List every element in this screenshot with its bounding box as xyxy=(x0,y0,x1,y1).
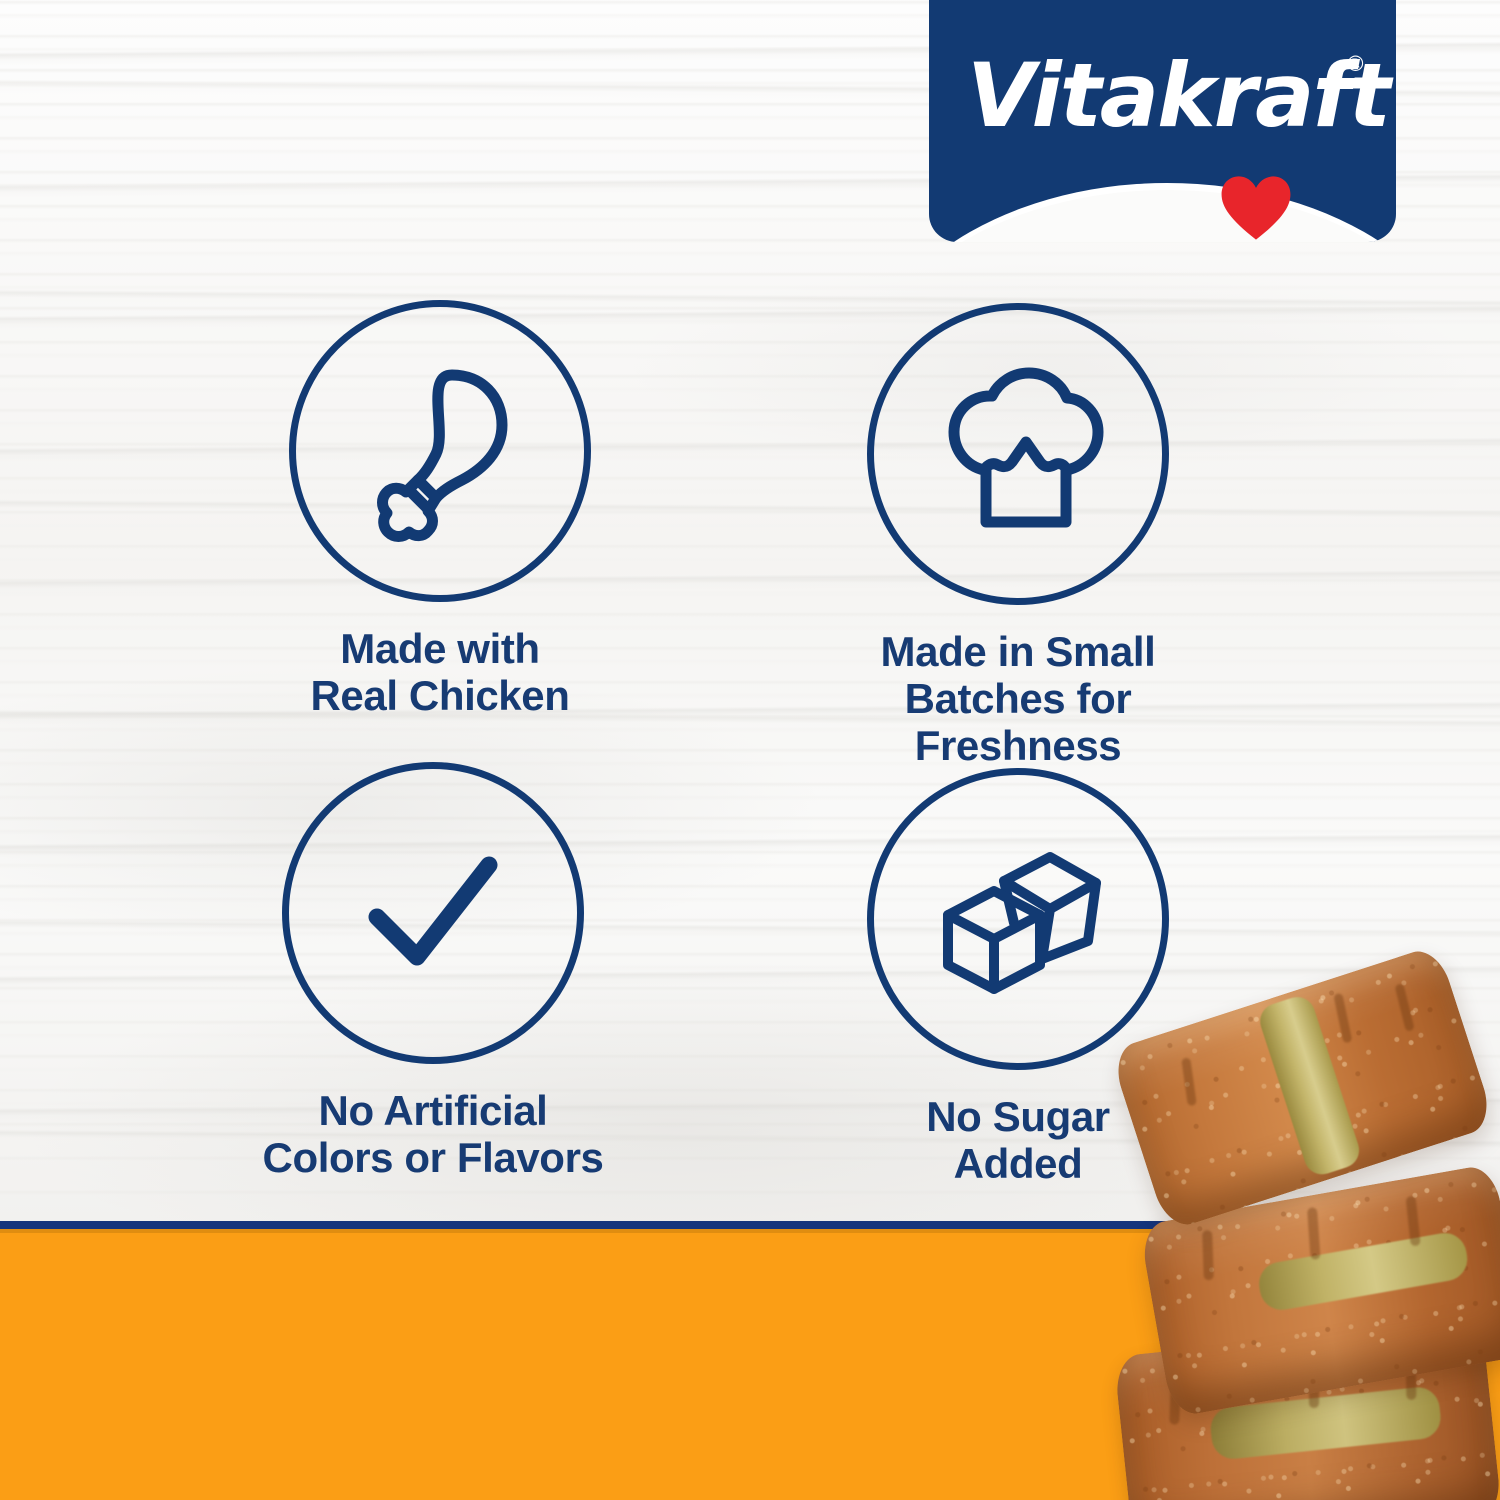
brand-wordmark: Vitakraft xyxy=(967,52,1389,140)
chef-hat-icon xyxy=(918,354,1118,554)
benefit-made-with-real-chicken: Made with Real Chicken xyxy=(220,300,660,719)
registered-trademark-symbol: ® xyxy=(1345,54,1366,75)
benefit-icon-circle xyxy=(289,300,591,602)
benefit-no-artificial-colors-or-flavors: No Artificial Colors or Flavors xyxy=(213,762,653,1181)
benefit-label: Made with Real Chicken xyxy=(220,625,660,719)
product-feature-image: Made with Real Chicken Made in Small Bat… xyxy=(0,0,1500,1500)
checkmark-icon xyxy=(333,813,533,1013)
logo-swoosh xyxy=(929,183,1396,242)
benefit-made-in-small-batches: Made in Small Batches for Freshness xyxy=(798,303,1238,769)
benefit-label: Made in Small Batches for Freshness xyxy=(798,628,1238,769)
benefit-icon-circle xyxy=(867,303,1169,605)
sugar-cubes-icon xyxy=(918,819,1118,1019)
chicken-drumstick-icon xyxy=(340,351,540,551)
vitakraft-logo: Vitakraft ® xyxy=(929,0,1396,242)
treat-score-mark xyxy=(1202,1230,1214,1280)
dog-treat-sticks-photo xyxy=(1105,985,1500,1500)
benefit-label: No Artificial Colors or Flavors xyxy=(213,1087,653,1181)
benefit-icon-circle xyxy=(282,762,584,1064)
heart-icon xyxy=(1220,175,1292,241)
